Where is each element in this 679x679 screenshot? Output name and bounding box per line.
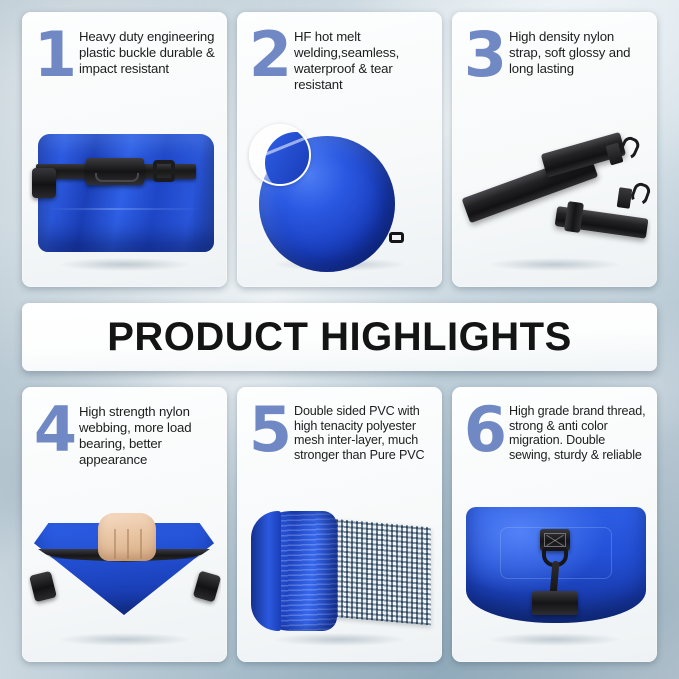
feature-3-text: High density nylon strap, soft glossy an… xyxy=(507,26,648,77)
magnifier-icon xyxy=(249,124,311,186)
rolled-blue-dry-bag-with-buckle-photo xyxy=(28,120,221,287)
photo-shadow xyxy=(489,258,620,271)
feature-card-5: 5 Double sided PVC with high tenacity po… xyxy=(237,387,442,662)
blue-dry-bag-body xyxy=(38,134,214,252)
feature-5-text: Double sided PVC with high tenacity poly… xyxy=(292,401,433,462)
finger-gap-2 xyxy=(127,529,129,559)
hand-holding-webbing-handle-photo xyxy=(28,495,221,662)
feature-4-text: High strength nylon webbing, more load b… xyxy=(77,401,218,467)
d-ring xyxy=(153,160,175,182)
side-clip-right xyxy=(193,570,221,602)
polyester-mesh-layer xyxy=(331,519,431,626)
feature-card-2: 2 HF hot melt welding,seamless, waterpro… xyxy=(237,12,442,287)
side-clip-left xyxy=(29,571,57,603)
plastic-buckle-icon xyxy=(86,158,144,185)
feature-5-header: 5 Double sided PVC with high tenacity po… xyxy=(237,387,442,495)
feature-2-text: HF hot melt welding,seamless, waterproof… xyxy=(292,26,433,92)
finger-gap-1 xyxy=(114,529,116,559)
swivel-hook-icon-bottom xyxy=(629,181,651,207)
feature-5-number: 5 xyxy=(247,401,292,458)
d-ring xyxy=(389,232,404,243)
feature-6-number: 6 xyxy=(462,401,507,458)
feature-4-number: 4 xyxy=(32,401,77,458)
d-ring-webbing-tab-stitching-photo xyxy=(458,495,651,662)
product-highlights-banner: PRODUCT HIGHLIGHTS xyxy=(22,303,657,371)
finger-gap-3 xyxy=(140,529,142,559)
pvc-mesh-interlayer-material-photo xyxy=(243,495,436,662)
photo-shadow xyxy=(59,258,190,271)
banner-title: PRODUCT HIGHLIGHTS xyxy=(107,315,572,360)
webbing-clasp xyxy=(532,591,578,615)
strap-end-tab-bottom xyxy=(617,187,633,209)
product-highlights-infographic: 1 Heavy duty engineering plastic buckle … xyxy=(0,0,679,679)
feature-3-header: 3 High density nylon strap, soft glossy … xyxy=(452,12,657,120)
feature-6-text: High grade brand thread, strong & anti c… xyxy=(507,401,648,462)
feature-1-header: 1 Heavy duty engineering plastic buckle … xyxy=(22,12,227,120)
box-x-stitching xyxy=(544,533,566,547)
strap-clip xyxy=(32,168,56,198)
bag-seam xyxy=(49,208,204,210)
feature-card-3: 3 High density nylon strap, soft glossy … xyxy=(452,12,657,287)
photo-shadow xyxy=(59,633,190,646)
welded-round-bag-bottom-with-magnifier-photo xyxy=(243,120,436,287)
photo-shadow xyxy=(274,633,405,646)
hand-icon xyxy=(98,513,156,561)
feature-3-number: 3 xyxy=(462,26,507,83)
black-adjustable-shoulder-strap-photo xyxy=(458,120,651,287)
feature-2-number: 2 xyxy=(247,26,292,83)
pvc-rolled-edge xyxy=(251,511,281,631)
feature-6-header: 6 High grade brand thread, strong & anti… xyxy=(452,387,657,495)
feature-2-header: 2 HF hot melt welding,seamless, waterpro… xyxy=(237,12,442,120)
photo-shadow xyxy=(489,633,620,646)
feature-card-4: 4 High strength nylon webbing, more load… xyxy=(22,387,227,662)
feature-1-text: Heavy duty engineering plastic buckle du… xyxy=(77,26,218,77)
feature-card-6: 6 High grade brand thread, strong & anti… xyxy=(452,387,657,662)
feature-4-header: 4 High strength nylon webbing, more load… xyxy=(22,387,227,495)
feature-card-1: 1 Heavy duty engineering plastic buckle … xyxy=(22,12,227,287)
feature-1-number: 1 xyxy=(32,26,77,83)
